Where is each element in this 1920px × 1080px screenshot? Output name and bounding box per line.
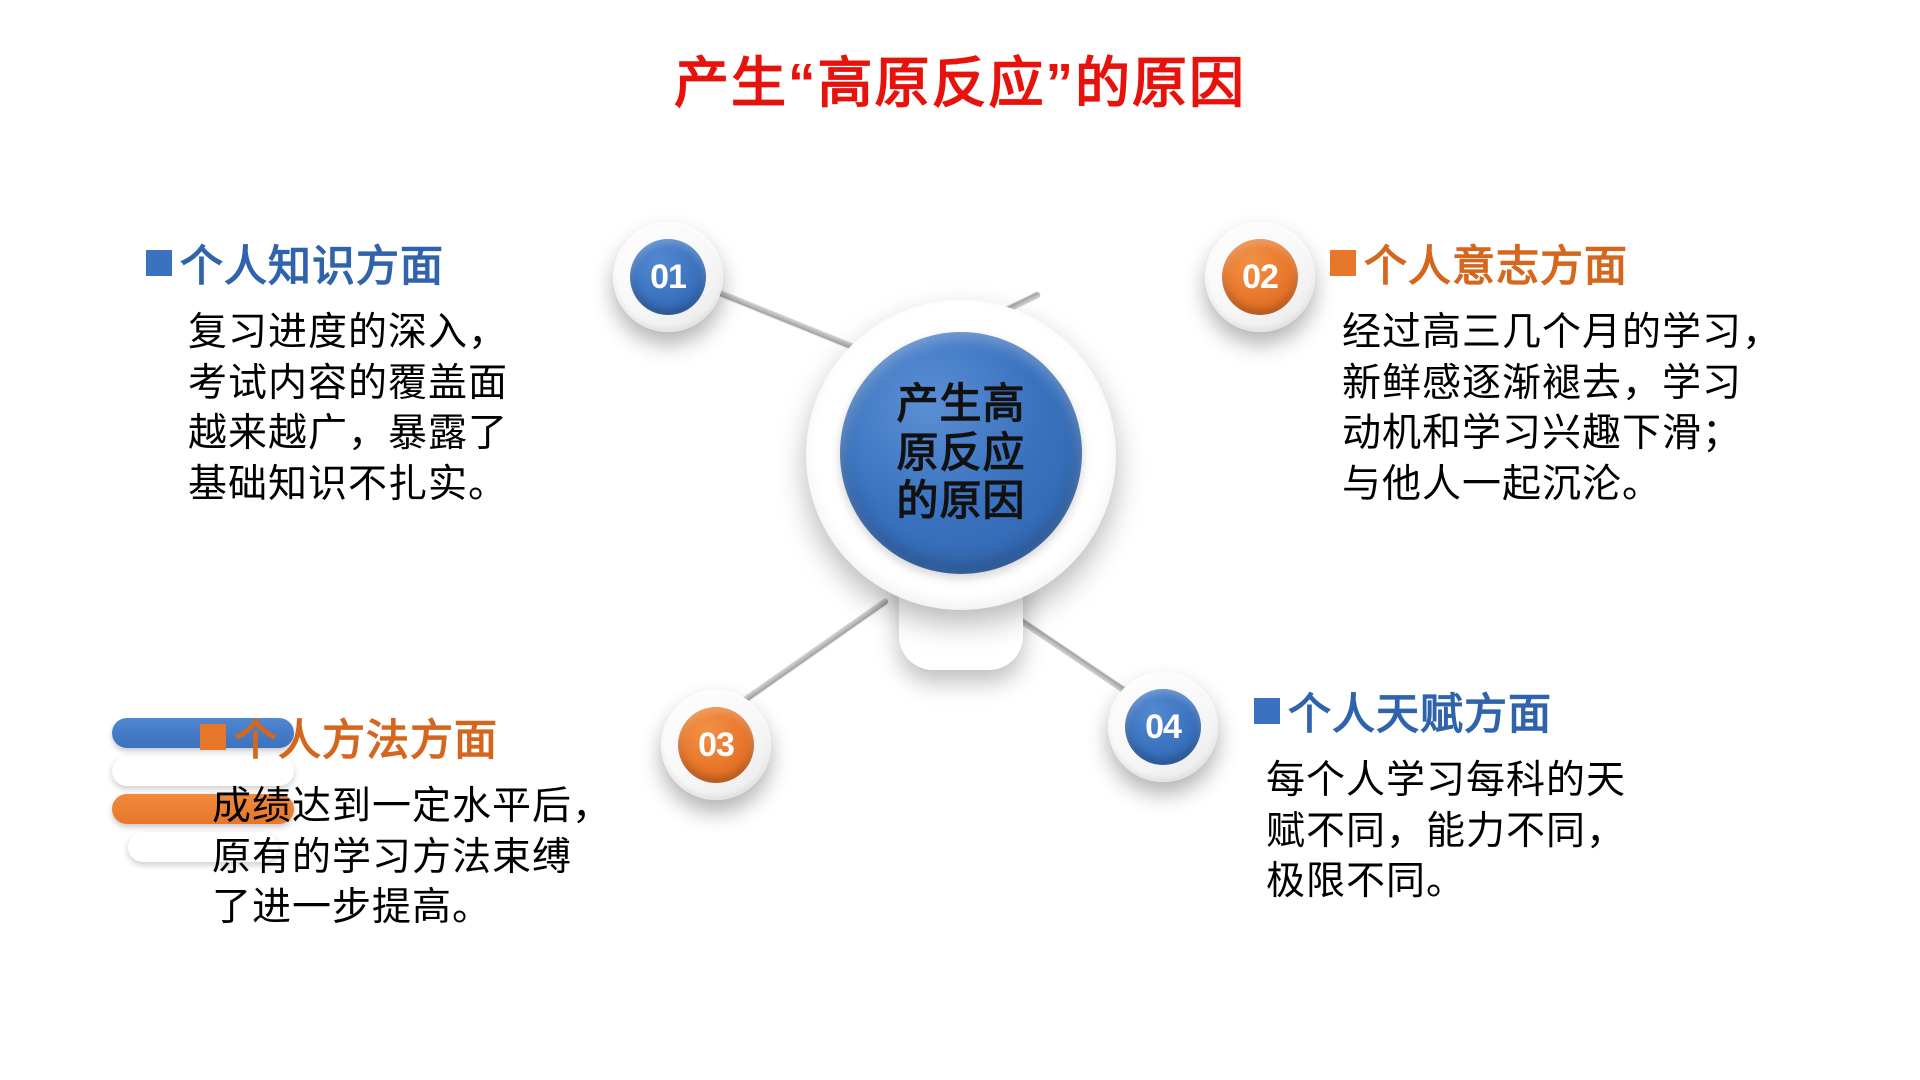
block-04-body: 每个人学习每科的天 赋不同，能力不同， 极限不同。 [1266,756,1814,908]
block-03-body: 成绩达到一定水平后， 原有的学习方法束缚 了进一步提高。 [212,782,740,934]
block-03-heading: 个人方法方面 [200,706,740,768]
block-04-heading: 个人天赋方面 [1254,680,1814,742]
block-01-body: 复习进度的深入， 考试内容的覆盖面 越来越广，暴露了 基础知识不扎实。 [188,308,666,511]
slide-canvas: 产生“高原反应”的原因 产生高 原反应 的原因 01 02 03 04 个人知识… [0,0,1920,1080]
bulb-text-line-1: 产生高 [896,382,1025,427]
block-01-heading: 个人知识方面 [146,232,666,294]
badge-04-label: 04 [1125,689,1201,765]
square-bullet-icon [1254,698,1280,724]
light-bulb: 产生高 原反应 的原因 [806,300,1116,630]
block-personal-talent: 个人天赋方面 每个人学习每科的天 赋不同，能力不同， 极限不同。 [1254,680,1814,908]
square-bullet-icon [200,724,226,750]
block-02-body: 经过高三几个月的学习， 新鲜感逐渐褪去，学习 动机和学习兴趣下滑； 与他人一起沉… [1342,308,1920,511]
badge-04[interactable]: 04 [1108,672,1218,782]
block-02-heading: 个人意志方面 [1330,232,1920,294]
block-01-heading-text: 个人知识方面 [180,232,444,294]
square-bullet-icon [1330,250,1356,276]
badge-02[interactable]: 02 [1205,222,1315,332]
block-personal-knowledge: 个人知识方面 复习进度的深入， 考试内容的覆盖面 越来越广，暴露了 基础知识不扎… [146,232,666,511]
page-title: 产生“高原反应”的原因 [0,38,1920,118]
badge-02-label: 02 [1222,239,1298,315]
block-02-heading-text: 个人意志方面 [1364,232,1628,294]
bulb-text-line-2: 原反应 [896,431,1025,476]
block-03-heading-text: 个人方法方面 [234,706,498,768]
block-04-heading-text: 个人天赋方面 [1288,680,1552,742]
block-personal-will: 个人意志方面 经过高三几个月的学习， 新鲜感逐渐褪去，学习 动机和学习兴趣下滑；… [1330,232,1920,511]
bulb-text-line-3: 的原因 [896,479,1025,524]
block-personal-method: 个人方法方面 成绩达到一定水平后， 原有的学习方法束缚 了进一步提高。 [200,706,740,934]
square-bullet-icon [146,250,172,276]
bulb-core-circle: 产生高 原反应 的原因 [840,332,1082,574]
